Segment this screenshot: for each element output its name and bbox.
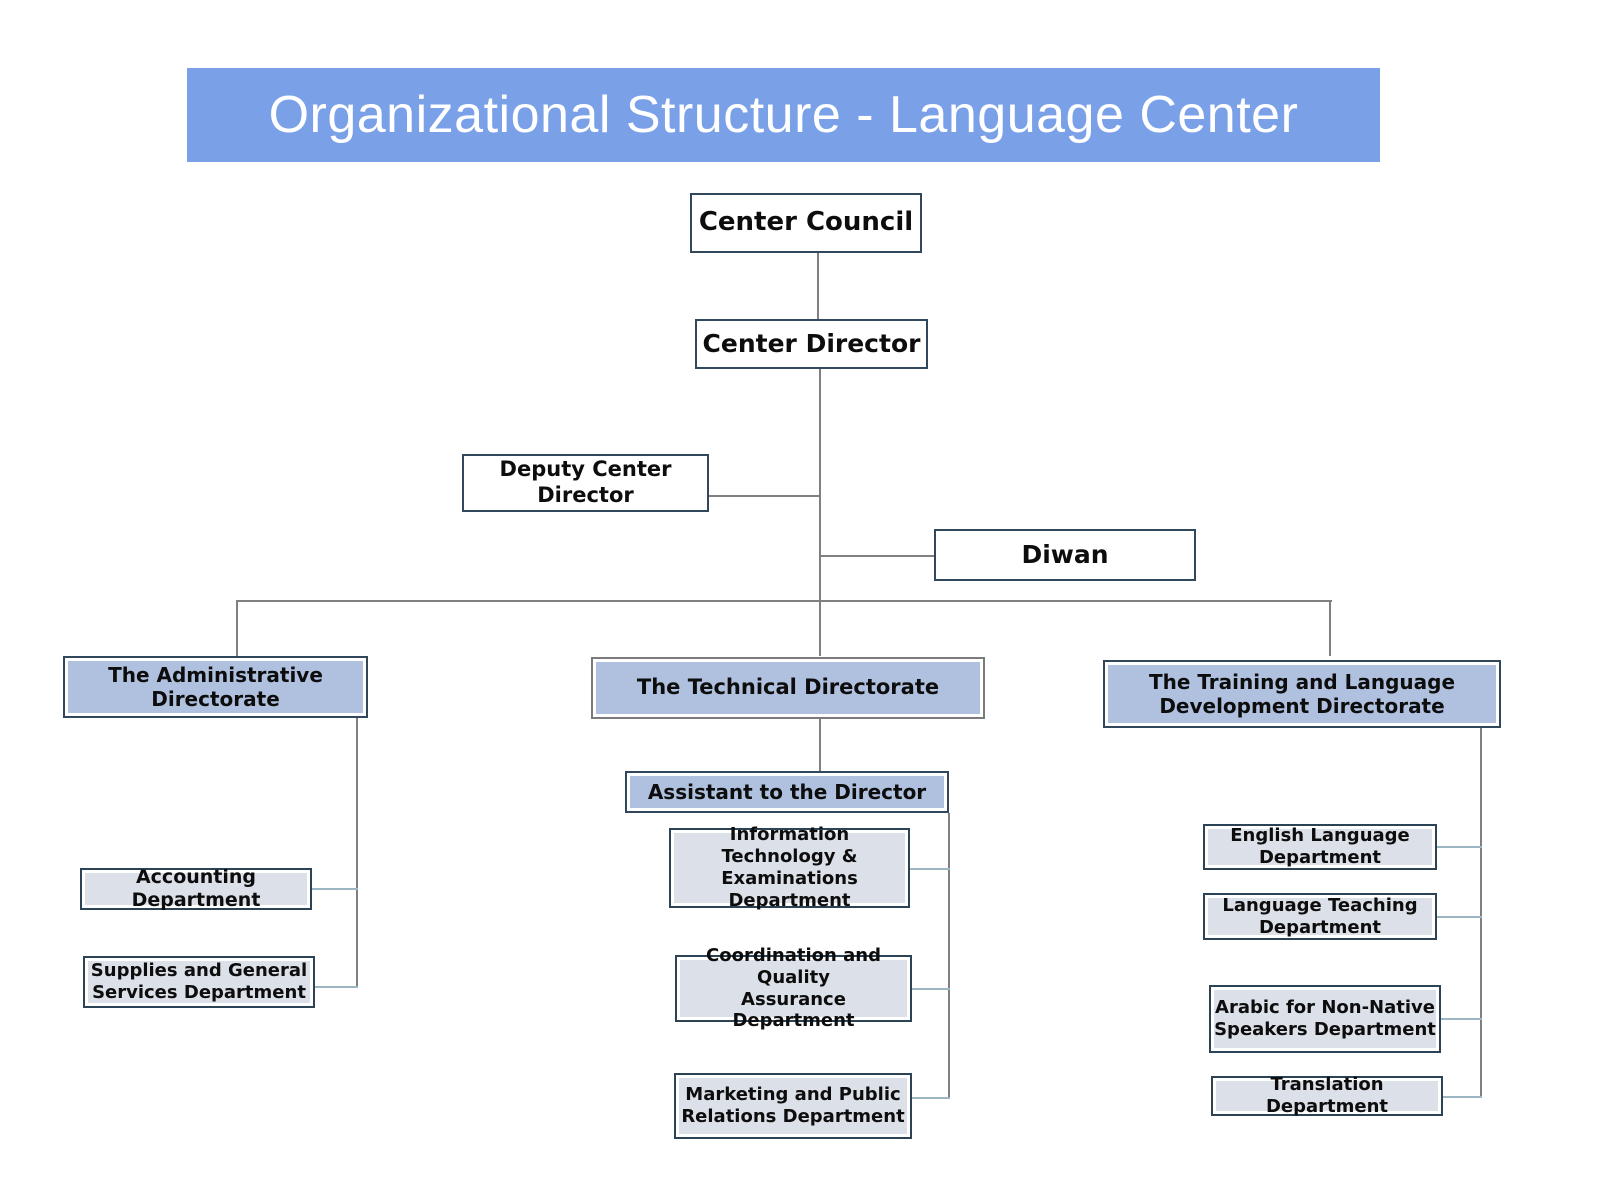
node-marketing-pr-department-label-line1: Marketing and Public <box>685 1084 900 1106</box>
node-accounting-department[interactable]: Accounting Department <box>80 868 312 910</box>
connector-council-to-director <box>817 253 819 320</box>
node-diwan-label: Diwan <box>1021 540 1108 571</box>
node-administrative-directorate-label-line2: Directorate <box>151 687 280 711</box>
node-diwan[interactable]: Diwan <box>934 529 1196 581</box>
org-chart-canvas: Organizational Structure - Language Cent… <box>0 0 1600 1200</box>
connector-stub-it-examinations <box>908 868 950 870</box>
node-deputy-center-director-label-line2: Director <box>537 483 634 509</box>
chart-title-banner: Organizational Structure - Language Cent… <box>187 68 1380 162</box>
node-deputy-center-director-label-line1: Deputy Center <box>500 457 672 483</box>
node-english-language-department[interactable]: English Language Department <box>1203 824 1437 870</box>
node-marketing-pr-department[interactable]: Marketing and Public Relations Departmen… <box>674 1073 912 1139</box>
connector-administrative-spine <box>356 718 358 988</box>
connector-training-spine <box>1480 728 1482 1097</box>
node-training-directorate-label-line2: Development Directorate <box>1159 694 1444 718</box>
connector-stub-arabic-non-native <box>1441 1018 1482 1020</box>
node-supplies-department[interactable]: Supplies and General Services Department <box>83 956 315 1008</box>
node-deputy-center-director[interactable]: Deputy Center Director <box>462 454 709 512</box>
node-training-directorate[interactable]: The Training and Language Development Di… <box>1103 660 1501 728</box>
node-assistant-to-director-label: Assistant to the Director <box>648 780 926 804</box>
node-accounting-department-label: Accounting Department <box>82 866 310 912</box>
node-assistant-to-director[interactable]: Assistant to the Director <box>625 771 949 813</box>
connector-drop-administrative <box>236 600 238 656</box>
node-administrative-directorate-label-line1: The Administrative <box>108 663 323 687</box>
node-language-teaching-department-label-line2: Department <box>1259 917 1381 939</box>
node-it-examinations-department-label-line1: Information Technology & <box>671 824 908 868</box>
connector-director-to-deputy <box>709 495 820 497</box>
node-coordination-quality-department-label-line1: Coordination and Quality <box>677 945 910 989</box>
node-arabic-non-native-department-label-line2: Speakers Department <box>1214 1019 1436 1041</box>
node-coordination-quality-department[interactable]: Coordination and Quality Assurance Depar… <box>675 955 912 1022</box>
node-it-examinations-department-label-line2: Examinations Department <box>671 868 908 912</box>
node-marketing-pr-department-label-line2: Relations Department <box>681 1106 904 1128</box>
node-center-council[interactable]: Center Council <box>690 193 922 253</box>
node-english-language-department-label-line1: English Language <box>1230 825 1410 847</box>
connector-stub-accounting <box>312 888 358 890</box>
node-translation-department-label: Translation Department <box>1213 1074 1441 1118</box>
connector-stub-translation <box>1443 1096 1482 1098</box>
node-it-examinations-department[interactable]: Information Technology & Examinations De… <box>669 828 910 908</box>
node-training-directorate-label-line1: The Training and Language <box>1149 670 1455 694</box>
node-supplies-department-label-line1: Supplies and General <box>91 960 307 982</box>
node-language-teaching-department[interactable]: Language Teaching Department <box>1203 893 1437 940</box>
node-center-council-label: Center Council <box>699 207 913 239</box>
node-english-language-department-label-line2: Department <box>1259 847 1381 869</box>
node-technical-directorate[interactable]: The Technical Directorate <box>591 657 985 719</box>
connector-drop-training <box>1329 600 1331 656</box>
node-arabic-non-native-department[interactable]: Arabic for Non-Native Speakers Departmen… <box>1209 985 1441 1053</box>
node-center-director-label: Center Director <box>703 329 921 360</box>
node-technical-directorate-label: The Technical Directorate <box>637 675 939 701</box>
node-center-director[interactable]: Center Director <box>695 319 928 369</box>
connector-technical-to-assistant <box>819 719 821 771</box>
node-arabic-non-native-department-label-line1: Arabic for Non-Native <box>1215 997 1435 1019</box>
connector-stub-supplies <box>315 986 358 988</box>
connector-stub-language-teaching <box>1437 916 1482 918</box>
node-language-teaching-department-label-line1: Language Teaching <box>1222 895 1417 917</box>
node-administrative-directorate[interactable]: The Administrative Directorate <box>63 656 368 718</box>
node-translation-department[interactable]: Translation Department <box>1211 1076 1443 1116</box>
connector-stub-marketing-pr <box>911 1097 950 1099</box>
page-title: Organizational Structure - Language Cent… <box>269 85 1299 145</box>
connector-director-to-diwan <box>821 555 934 557</box>
connector-drop-technical <box>819 600 821 656</box>
connector-distribution-bar <box>236 600 1332 602</box>
connector-stub-english-language <box>1437 846 1482 848</box>
node-coordination-quality-department-label-line2: Assurance Department <box>677 989 910 1033</box>
node-supplies-department-label-line2: Services Department <box>92 982 306 1004</box>
connector-technical-spine <box>948 813 950 1098</box>
connector-stub-coordination-quality <box>910 988 950 990</box>
connector-director-trunk <box>819 369 821 601</box>
